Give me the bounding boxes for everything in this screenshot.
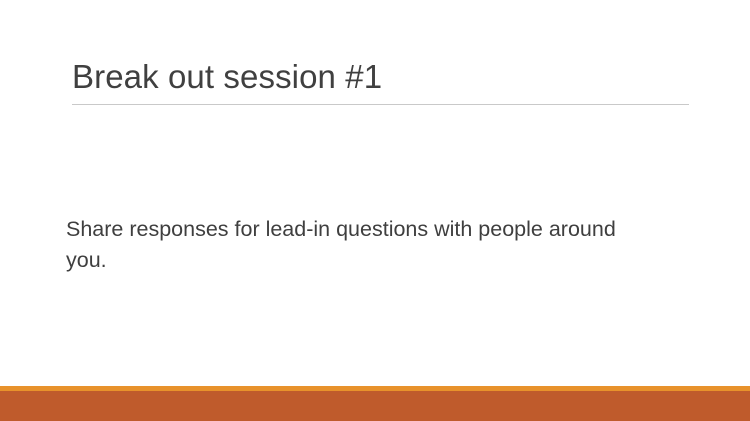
page-title: Break out session #1 bbox=[72, 56, 689, 98]
body-block: Share responses for lead-in questions wi… bbox=[66, 214, 662, 276]
slide-canvas: Break out session #1 Share responses for… bbox=[0, 0, 750, 421]
footer-main-bar bbox=[0, 391, 750, 421]
body-paragraph: Share responses for lead-in questions wi… bbox=[66, 214, 662, 276]
title-underline-rule bbox=[72, 104, 689, 105]
title-block: Break out session #1 bbox=[72, 56, 689, 105]
